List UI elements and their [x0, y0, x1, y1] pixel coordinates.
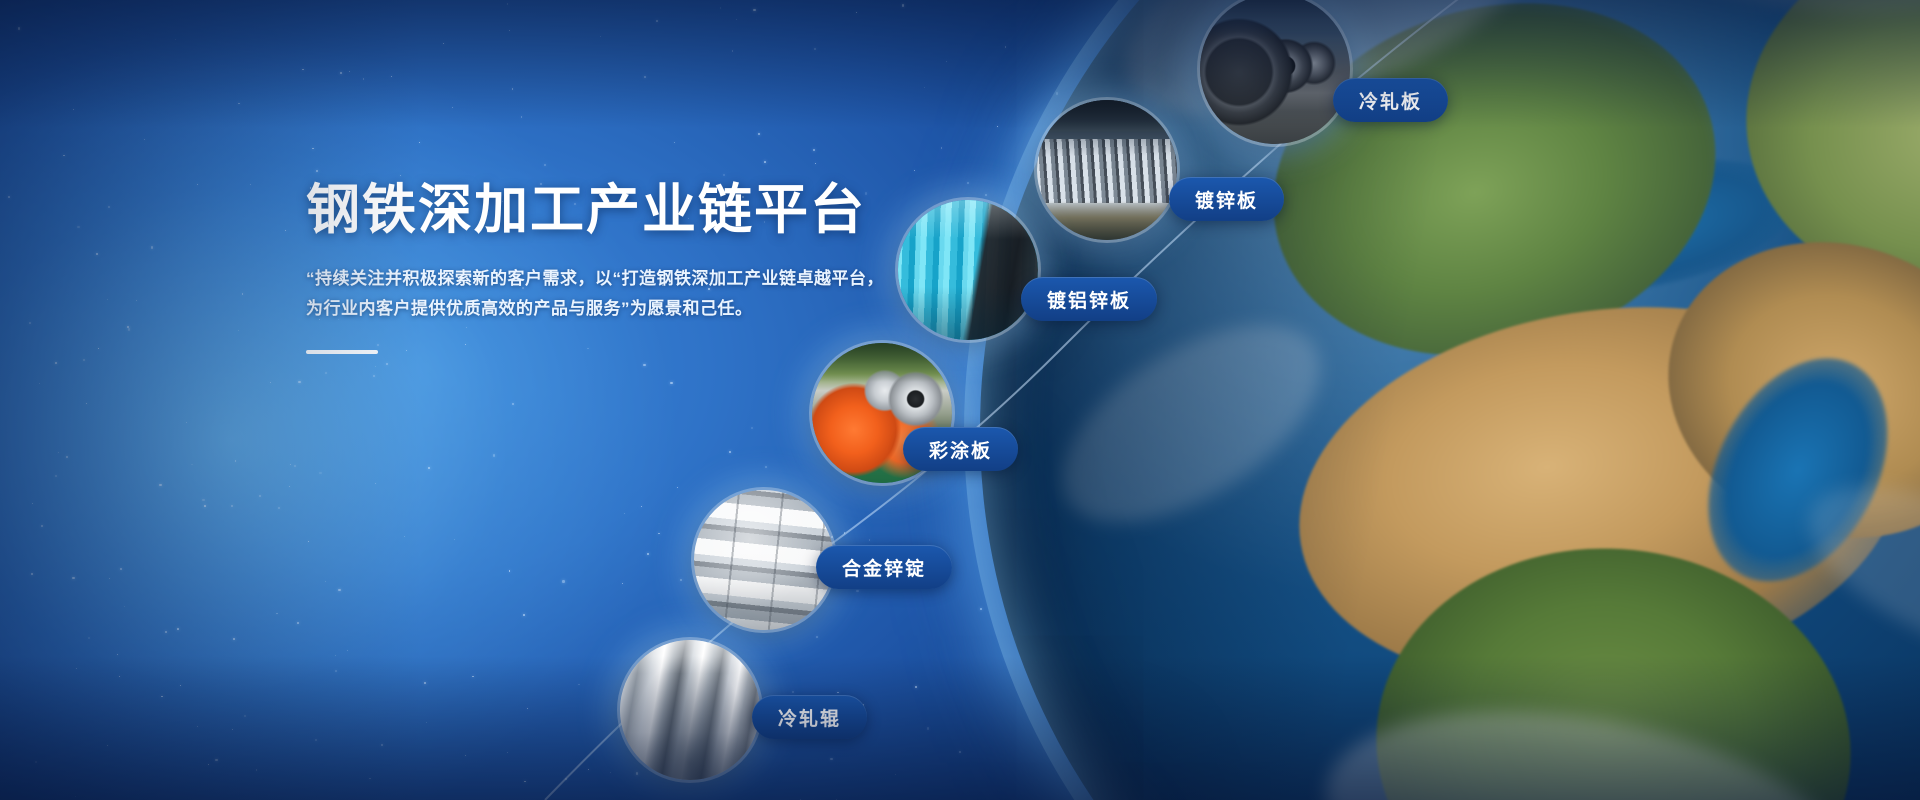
product-label-galvanized-plate[interactable]: 镀锌板 — [1169, 177, 1284, 221]
page-subtitle: “持续关注并积极探索新的客户需求，以“打造钢铁深加工产业链卓越平台， 为行业内客… — [306, 264, 906, 324]
zinc-ingot-image — [694, 490, 834, 630]
warehouse-coils-icon[interactable] — [1037, 100, 1177, 240]
chrome-roller-image — [620, 640, 760, 780]
cyan-sheet-image — [898, 200, 1038, 340]
subtitle-line-1: “持续关注并积极探索新的客户需求，以“打造钢铁深加工产业链卓越平台， — [306, 264, 906, 294]
product-label-zinc-alloy-ingot[interactable]: 合金锌锭 — [816, 545, 952, 589]
subtitle-line-2: 为行业内客户提供优质高效的产品与服务”为愿景和己任。 — [306, 294, 906, 324]
zinc-ingot-icon[interactable] — [694, 490, 834, 630]
steel-coil-icon[interactable] — [1200, 0, 1350, 144]
steel-coil-image — [1200, 0, 1350, 144]
product-label-cold-rolled-plate[interactable]: 冷轧板 — [1333, 78, 1448, 122]
product-label-cold-rolling-roll[interactable]: 冷轧辊 — [752, 695, 867, 739]
background-glow — [0, 0, 1920, 800]
hero-banner: 钢铁深加工产业链平台 “持续关注并积极探索新的客户需求，以“打造钢铁深加工产业链… — [0, 0, 1920, 800]
page-title: 钢铁深加工产业链平台 — [306, 180, 906, 240]
cyan-sheet-icon[interactable] — [898, 200, 1038, 340]
chrome-roller-icon[interactable] — [620, 640, 760, 780]
title-divider — [306, 350, 378, 354]
product-label-aluzinc-plate[interactable]: 镀铝锌板 — [1021, 277, 1157, 321]
product-label-color-coated-plate[interactable]: 彩涂板 — [903, 427, 1018, 471]
warehouse-coils-image — [1037, 100, 1177, 240]
headline-block: 钢铁深加工产业链平台 “持续关注并积极探索新的客户需求，以“打造钢铁深加工产业链… — [306, 180, 906, 354]
